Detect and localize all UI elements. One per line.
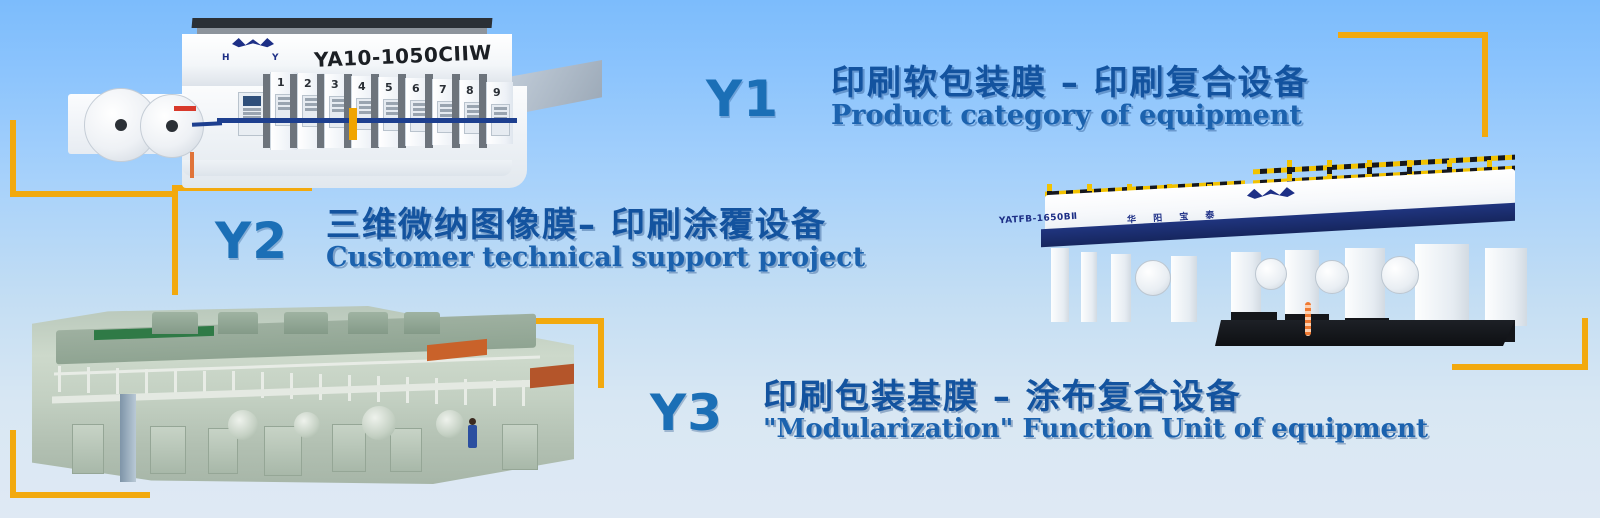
coating-line-roller [436, 410, 464, 438]
category-row-y2: Y2 三维微纳图像膜– 印刷涂覆设备 Customer technical su… [215, 208, 865, 272]
coating-line-module [502, 424, 538, 470]
control-keypad-row [243, 108, 261, 111]
laminator-roller [1135, 260, 1171, 296]
press-unit-number: 7 [439, 83, 447, 96]
category-code-y3: Y3 [650, 388, 723, 438]
handrail-post [290, 373, 293, 399]
equipment-category-banner: H Y YA10-1050CIIW 123456789 YATFB-1650BⅡ… [0, 0, 1600, 518]
coating-line-dryer-hood [218, 312, 258, 334]
category-title-en-y1: Product category of equipment [831, 102, 1310, 130]
machine-photo-rotogravure-press: H Y YA10-1050CIIW 123456789 [62, 10, 602, 180]
press-unit-number: 6 [412, 82, 420, 95]
category-text-y3: 印刷包装基膜 – 涂布复合设备 "Modularization" Functio… [763, 380, 1428, 443]
category-title-cn-y2: 三维微纳图像膜– 印刷涂覆设备 [326, 208, 865, 244]
handrail-post [145, 369, 148, 395]
coating-line-module [332, 424, 366, 472]
handrail-post [87, 367, 90, 393]
category-title-cn-y1: 印刷软包装膜 – 印刷复合设备 [831, 66, 1310, 102]
laminator-column [1485, 248, 1527, 326]
category-code-y1: Y1 [706, 74, 779, 124]
coating-line-roller [362, 406, 396, 440]
coating-line-module [150, 426, 186, 474]
press-canopy [192, 18, 493, 28]
laminator-column [1111, 254, 1131, 322]
category-row-y1: Y1 印刷软包装膜 – 印刷复合设备 Product category of e… [706, 66, 1310, 130]
brand-letter-h: H [222, 53, 230, 63]
coating-line-module [390, 428, 422, 472]
press-unit-number: 4 [358, 80, 366, 93]
corner-bracket-icon-top-right [1338, 32, 1488, 137]
roll-hub [115, 119, 127, 131]
coating-line-dryer-hood [348, 312, 388, 334]
press-unit-number: 8 [466, 84, 474, 97]
handrail-post [58, 366, 61, 392]
category-text-y2: 三维微纳图像膜– 印刷涂覆设备 Customer technical suppo… [326, 208, 865, 272]
coating-line-module [72, 424, 104, 474]
machine-photo-coating-line [32, 306, 574, 484]
coating-line-roller [228, 410, 258, 440]
coating-line-dryer-hood [404, 312, 440, 334]
laminator-roller [1381, 256, 1419, 294]
press-unit-number: 3 [331, 78, 339, 91]
handrail-post [435, 378, 438, 404]
operator-head [469, 418, 476, 425]
category-row-y3: Y3 印刷包装基膜 – 涂布复合设备 "Modularization" Func… [650, 380, 1428, 443]
category-title-cn-y3: 印刷包装基膜 – 涂布复合设备 [763, 380, 1428, 416]
press-unit-number: 5 [385, 81, 393, 94]
press-control-panel [238, 92, 266, 136]
operator-figure [468, 418, 477, 448]
handrail-post [116, 368, 119, 394]
brand-letter-y: Y [272, 53, 279, 63]
laminator-column [1285, 250, 1319, 324]
laminator-column [1051, 248, 1069, 322]
coating-line-dryer-hood [152, 312, 198, 334]
laminator-column [1415, 244, 1469, 328]
hy-bird-logo-icon: H Y [222, 38, 284, 64]
category-code-y2: Y2 [215, 216, 288, 266]
laminator-base-bed [1215, 320, 1515, 346]
bird-shape-icon [232, 38, 274, 53]
laminator-column [1081, 252, 1097, 322]
laminator-roller [1315, 260, 1349, 294]
press-warning-marker [174, 106, 196, 111]
press-blue-stripe [217, 118, 517, 123]
roll-hub [166, 120, 178, 132]
press-unit-number: 9 [493, 86, 501, 99]
operator-body [468, 425, 477, 448]
press-yellow-marker [349, 108, 357, 140]
machine-photo-coating-laminator: YATFB-1650BⅡ 华 阳 宝 泰 [985, 152, 1525, 357]
coating-line-dryer-hood [284, 312, 328, 334]
laminator-orange-hose [1305, 302, 1311, 336]
coating-line-roller [294, 412, 320, 438]
coating-line-web-film [120, 394, 136, 482]
category-title-en-y2: Customer technical support project [326, 244, 865, 272]
control-keypad-row [243, 112, 261, 115]
press-unit-number: 2 [304, 77, 312, 90]
category-text-y1: 印刷软包装膜 – 印刷复合设备 Product category of equi… [831, 66, 1310, 130]
press-unit-number: 1 [277, 76, 285, 89]
press-print-unit: 9 [486, 82, 513, 144]
press-base [182, 160, 512, 176]
laminator-roller [1255, 258, 1287, 290]
control-screen [243, 96, 261, 106]
press-orange-hose [190, 152, 194, 178]
category-title-en-y3: "Modularization" Function Unit of equipm… [763, 416, 1428, 443]
laminator-column [1345, 248, 1385, 326]
laminator-column [1171, 256, 1197, 322]
